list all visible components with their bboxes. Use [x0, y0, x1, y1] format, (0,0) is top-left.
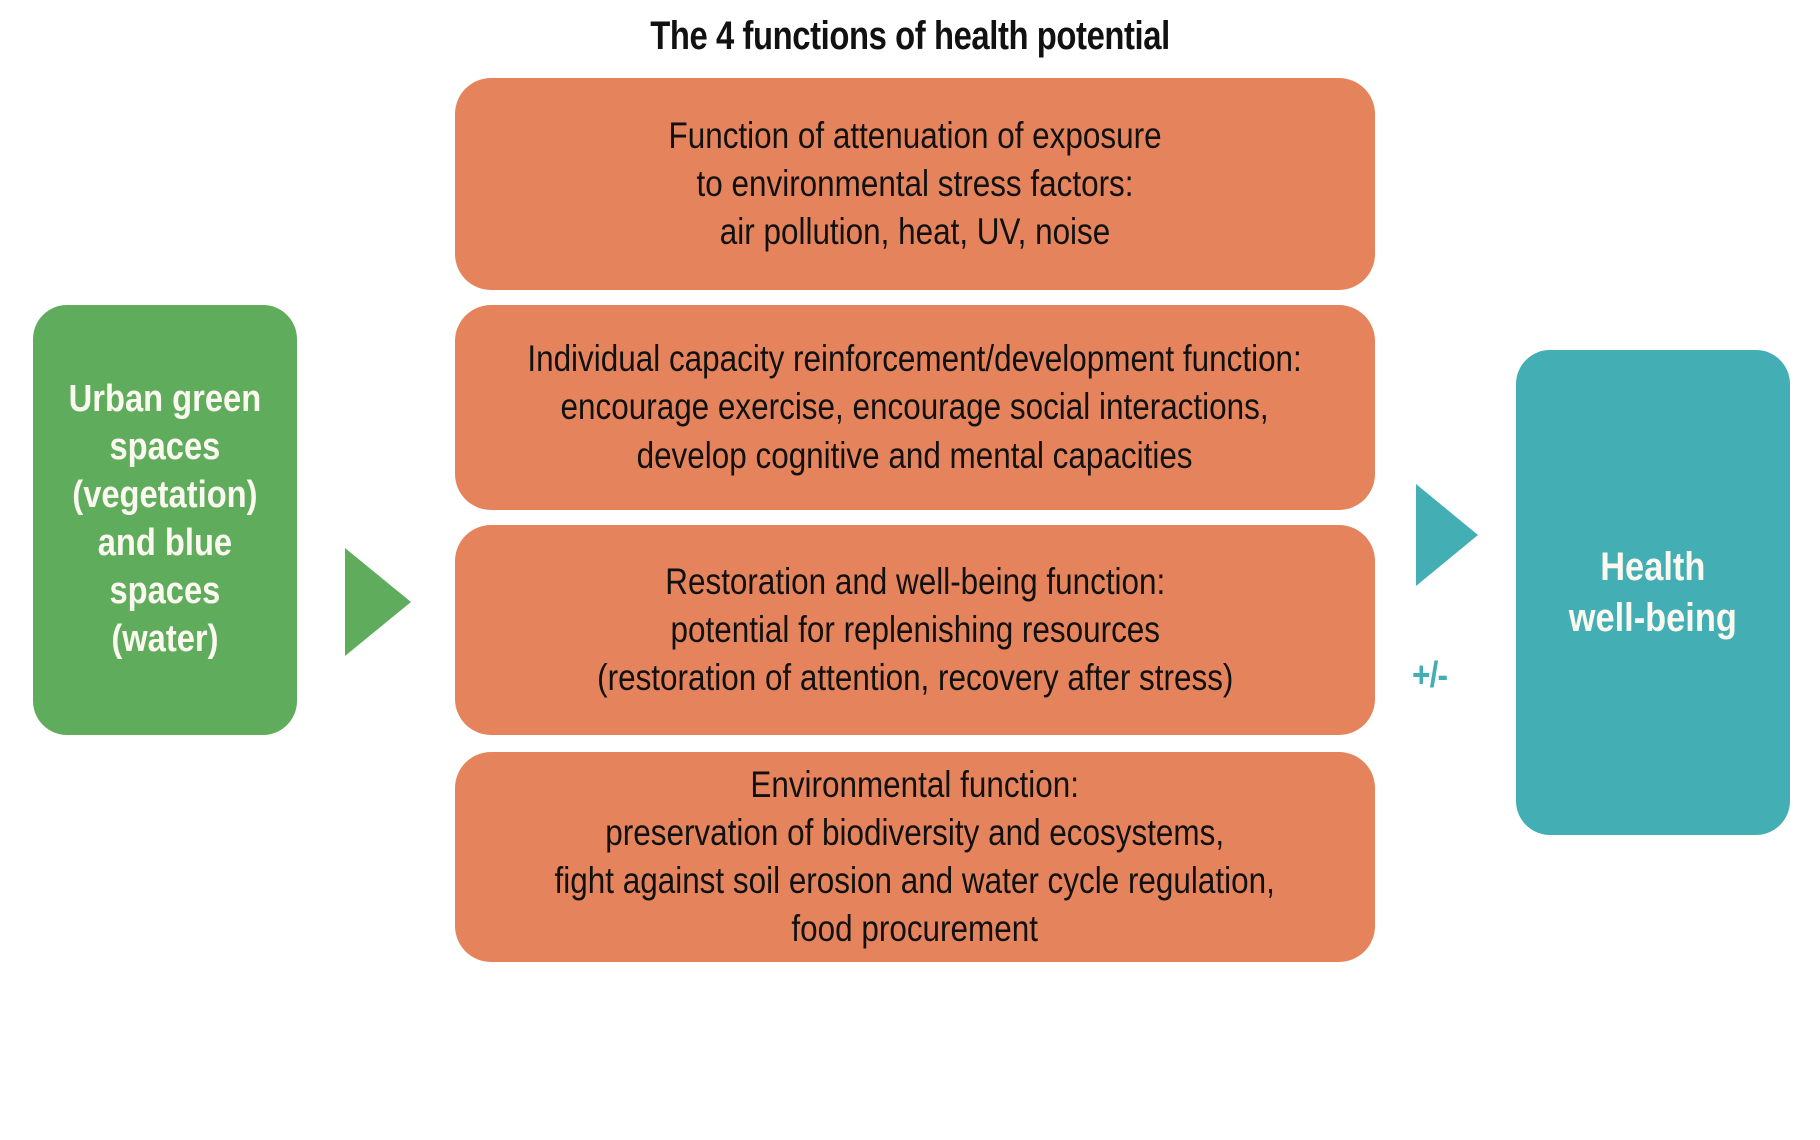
source-box-label: Urban green spaces (vegetation) and blue… — [62, 376, 268, 663]
function-box-label: Environmental function: preservation of … — [555, 761, 1275, 953]
teal-right-arrow-icon — [1416, 484, 1478, 586]
function-box-label: Individual capacity reinforcement/develo… — [528, 335, 1302, 479]
function-box: Environmental function: preservation of … — [455, 752, 1375, 962]
function-box: Individual capacity reinforcement/develo… — [455, 305, 1375, 510]
outcome-box-health-wellbeing: Health well-being — [1516, 350, 1790, 835]
green-right-arrow-icon — [345, 548, 411, 656]
diagram-canvas: The 4 functions of health potential Urba… — [0, 0, 1820, 1140]
outcome-box-label: Health well-being — [1569, 542, 1737, 643]
plus-minus-label: +/- — [1412, 654, 1447, 696]
function-box: Function of attenuation of exposure to e… — [455, 78, 1375, 290]
function-box-label: Restoration and well-being function: pot… — [597, 558, 1233, 702]
page-title: The 4 functions of health potential — [164, 14, 1656, 59]
function-box-label: Function of attenuation of exposure to e… — [668, 112, 1161, 256]
source-box-urban-green-spaces: Urban green spaces (vegetation) and blue… — [33, 305, 297, 735]
function-box: Restoration and well-being function: pot… — [455, 525, 1375, 735]
